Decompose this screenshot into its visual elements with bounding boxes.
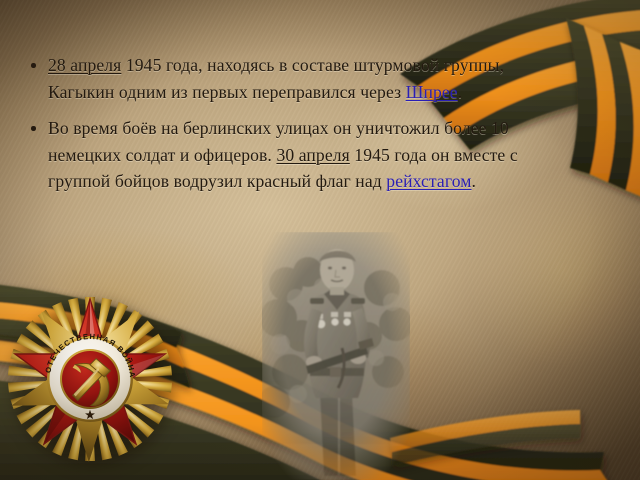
list-item: 28 апреля 1945 года, находясь в составе … — [22, 52, 574, 105]
bullet-1-run-period: . — [458, 82, 463, 102]
order-of-patriotic-war-medal: ОТЕЧЕСТВЕННАЯ ВОЙНА — [2, 276, 178, 466]
list-item: Во время боёв на берлинских улицах он ун… — [22, 115, 574, 195]
bullet-2-run-date[interactable]: 30 апреля — [276, 145, 349, 165]
bullet-2-link-reichstag[interactable]: рейхстагом — [386, 171, 471, 191]
soldier-photo — [262, 232, 410, 480]
presentation-slide: ОТЕЧЕСТВЕННАЯ ВОЙНА — [0, 0, 640, 480]
bullet-list: 28 апреля 1945 года, находясь в составе … — [22, 52, 574, 195]
bullet-2-run-period: . — [472, 171, 477, 191]
bullet-1-link-spree[interactable]: Шпрее — [406, 82, 458, 102]
bullet-1-run-date[interactable]: 28 апреля — [48, 55, 121, 75]
ribbon-fold-right — [566, 18, 640, 198]
ribbon-band-photo-overlay — [390, 410, 580, 466]
slide-body-text: 28 апреля 1945 года, находясь в составе … — [22, 52, 574, 205]
